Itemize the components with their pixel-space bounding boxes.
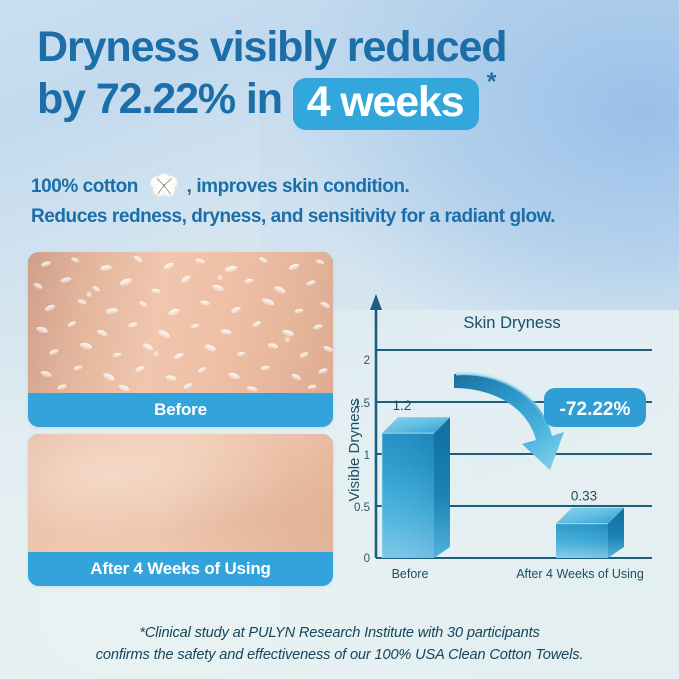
chart-title: Skin Dryness [463,314,560,332]
before-label: Before [28,393,333,427]
svg-text:1: 1 [364,450,370,462]
after-label: After 4 Weeks of Using [28,552,333,586]
svg-text:0.5: 0.5 [354,502,370,514]
y-axis [370,294,382,558]
bar-after [556,508,624,558]
bar-value-after: 0.33 [571,489,597,504]
x-tick-labels: Before After 4 Weeks of Using [392,567,644,581]
skin-dryness-bar-chart: Skin Dryness Visible Dryness 2 1.5 1 [340,290,662,585]
before-photo-card: Before [28,252,333,427]
after-photo [28,434,333,552]
subtitle-line-1-prefix: 100% cotton [31,176,138,197]
reduction-badge-label: -72.22% [560,399,631,420]
reduction-badge: -72.22% [544,388,646,427]
before-photo [28,252,333,393]
weeks-badge-wrap: 4 weeks * [293,74,480,127]
bar-value-before: 1.2 [393,398,412,413]
svg-text:2: 2 [364,355,370,367]
bar-before [382,417,450,558]
footnote-line-1: *Clinical study at PULYN Research Instit… [0,622,679,644]
subtitle-line-2: Reduces redness, dryness, and sensitivit… [31,202,651,232]
skin-flakes-overlay [28,252,333,393]
footnote: *Clinical study at PULYN Research Instit… [0,622,679,666]
page-title: Dryness visibly reduced by 72.22% in 4 w… [37,22,652,127]
svg-text:0: 0 [364,553,370,565]
x-label-before: Before [392,567,429,581]
duration-badge: 4 weeks [293,78,480,130]
footnote-line-2: confirms the safety and effectiveness of… [0,644,679,666]
subtitle-line-1: 100% cotton [31,172,651,202]
skin-pores-overlay [28,434,333,552]
headline-line-1: Dryness visibly reduced [37,23,506,71]
promotional-poster: Dryness visibly reduced by 72.22% in 4 w… [0,0,679,679]
asterisk-marker: * [487,70,496,95]
subtitle: 100% cotton [31,172,651,232]
y-axis-label: Visible Dryness [346,398,363,501]
cotton-boll-icon [147,173,181,199]
subtitle-line-1-suffix: , improves skin condition. [187,176,410,197]
svg-text:1.5: 1.5 [354,398,370,410]
headline-line-2-prefix: by 72.22% in [37,75,282,123]
after-photo-card: After 4 Weeks of Using [28,434,333,586]
x-label-after: After 4 Weeks of Using [516,567,644,581]
